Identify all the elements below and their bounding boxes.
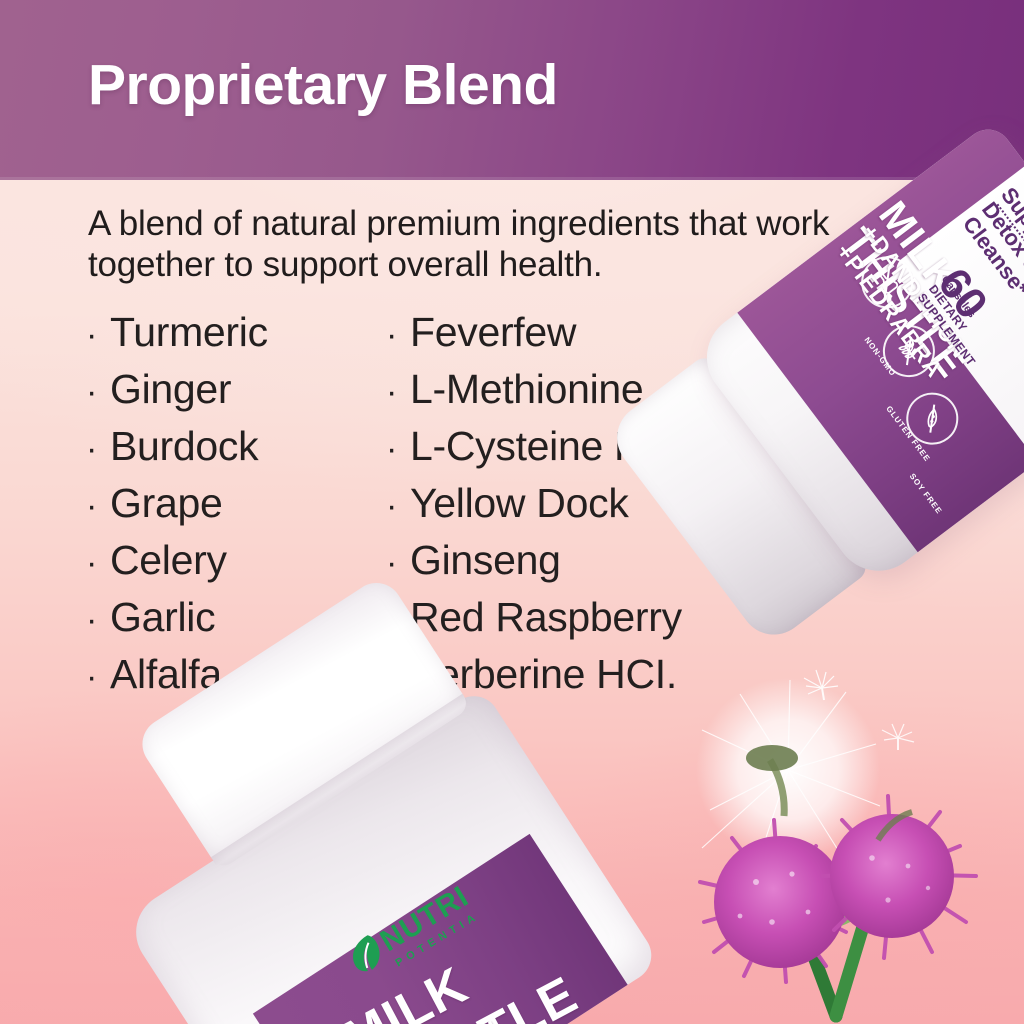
list-item-label: Garlic (110, 593, 215, 642)
product-infographic: Proprietary Blend A blend of natural pre… (0, 0, 1024, 1024)
bullet-icon: · (386, 539, 410, 588)
list-item-label: Grape (110, 479, 222, 528)
bullet-icon: · (386, 482, 410, 531)
soy-free-badge-icon (896, 382, 969, 455)
list-item-label: Feverfew (410, 308, 576, 357)
bullet-icon: · (86, 311, 110, 360)
list-item-label: Burdock (110, 422, 258, 471)
floating-seed (882, 724, 914, 750)
soy-free-badge-label: SOY FREE (908, 472, 944, 516)
bullet-icon: · (86, 539, 110, 588)
bullet-icon: · (86, 596, 110, 645)
page-title: Proprietary Blend (88, 52, 558, 118)
bullet-icon: · (86, 368, 110, 417)
list-item: · Celery (86, 536, 386, 593)
list-item-label: Turmeric (110, 308, 268, 357)
bullet-icon: · (386, 368, 410, 417)
list-item: · Grape (86, 479, 386, 536)
bullet-icon: · (86, 482, 110, 531)
list-item-label: Celery (110, 536, 227, 585)
bullet-icon: · (386, 425, 410, 474)
list-item: · Turmeric (86, 308, 386, 365)
list-item-label: L-Methionine (410, 365, 643, 414)
list-item: · Ginger (86, 365, 386, 422)
bullet-icon: · (86, 425, 110, 474)
bullet-icon: · (386, 311, 410, 360)
bullet-icon: · (86, 653, 110, 702)
decor-flowers (640, 660, 1024, 1024)
list-item-label: Yellow Dock (410, 479, 629, 528)
list-item-label: Ginger (110, 365, 231, 414)
list-item: · Burdock (86, 422, 386, 479)
